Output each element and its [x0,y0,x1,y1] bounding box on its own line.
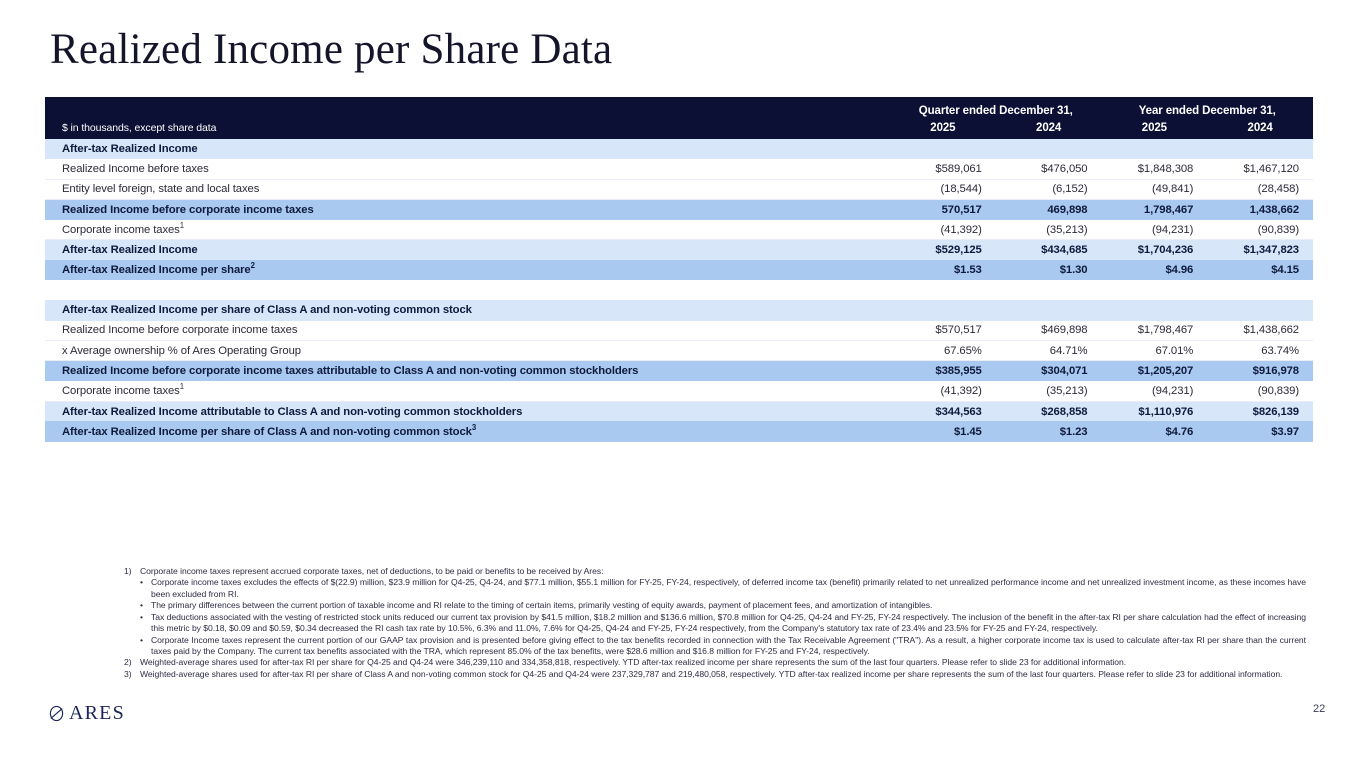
row-value-1: 64.71% [996,341,1102,361]
row-value-3: $1,438,662 [1207,321,1313,341]
footnote-1-bullet: •The primary differences between the cur… [140,600,1306,611]
row-label: Corporate income taxes1 [45,381,890,401]
row-value-3: (90,839) [1207,381,1313,401]
row-label: Corporate income taxes1 [45,220,890,240]
row-value-0: $1.45 [890,421,996,441]
row-label: Realized Income before corporate income … [45,361,890,381]
row-value-2: 67.01% [1102,341,1208,361]
row-value-0: $589,061 [890,159,996,179]
financial-table-container: Quarter ended December 31, Year ended De… [45,97,1313,442]
footnote-2-marker: 2) [124,657,140,668]
row-value-1: $304,071 [996,361,1102,381]
slide-root: Realized Income per Share Data Quarter e… [0,0,1365,768]
bullet-icon: • [140,612,151,635]
row-value-2: $4.96 [1102,260,1208,280]
row-label: After-tax Realized Income [45,240,890,260]
row-label: After-tax Realized Income per share2 [45,260,890,280]
table-row: Realized Income before taxes$589,061$476… [45,159,1313,179]
bullet-icon: • [140,600,151,611]
row-value-2: $1,110,976 [1102,401,1208,421]
table-header-groups-row: Quarter ended December 31, Year ended De… [45,97,1313,118]
row-label: Realized Income before taxes [45,159,890,179]
row-value-3: 1,438,662 [1207,200,1313,220]
row-value-2: $1,848,308 [1102,159,1208,179]
table-row: x Average ownership % of Ares Operating … [45,341,1313,361]
column-group-year: Year ended December 31, [1102,97,1314,118]
row-value-1: (35,213) [996,381,1102,401]
row-value-3: $4.15 [1207,260,1313,280]
footnote-1-bullet: •Tax deductions associated with the vest… [140,612,1306,635]
footnote-1-bullets: •Corporate income taxes excludes the eff… [124,577,1306,657]
row-value-3: $3.97 [1207,421,1313,441]
row-value-0: 67.65% [890,341,996,361]
page-title: Realized Income per Share Data [50,25,612,74]
table-section-heading: After-tax Realized Income per share of C… [45,300,1313,320]
row-value-2: $4.76 [1102,421,1208,441]
row-value-0: (41,392) [890,381,996,401]
footnote-1-bullet: •Corporate Income taxes represent the cu… [140,635,1306,658]
header-year-q-2024: 2024 [996,118,1102,139]
footnote-1: 1) Corporate income taxes represent accr… [124,566,1306,577]
header-year-fy-2025: 2025 [1102,118,1208,139]
row-value-3: 63.74% [1207,341,1313,361]
row-value-1: 469,898 [996,200,1102,220]
table-row: Realized Income before corporate income … [45,361,1313,381]
row-label: x Average ownership % of Ares Operating … [45,341,890,361]
table-row: Entity level foreign, state and local ta… [45,179,1313,199]
footnote-3-text: Weighted-average shares used for after-t… [140,669,1306,680]
page-number: 22 [1313,703,1325,715]
row-value-1: $476,050 [996,159,1102,179]
footnote-1-bullet: •Corporate income taxes excludes the eff… [140,577,1306,600]
row-value-0: $570,517 [890,321,996,341]
column-group-quarter: Quarter ended December 31, [890,97,1102,118]
row-value-3: $1,347,823 [1207,240,1313,260]
row-value-0: $529,125 [890,240,996,260]
row-label: Realized Income before corporate income … [45,321,890,341]
row-label: Realized Income before corporate income … [45,200,890,220]
row-label: After-tax Realized Income per share of C… [45,421,890,441]
row-value-2: $1,205,207 [1102,361,1208,381]
table-section-heading-row: After-tax Realized Income per share of C… [45,300,1313,320]
footnote-2: 2) Weighted-average shares used for afte… [124,657,1306,668]
section-spacer [45,280,1313,300]
footnote-1-bullet-text: The primary differences between the curr… [151,600,1306,611]
row-value-0: 570,517 [890,200,996,220]
table-row: After-tax Realized Income attributable t… [45,401,1313,421]
table-row: After-tax Realized Income per share2$1.5… [45,260,1313,280]
footnote-1-bullet-text: Tax deductions associated with the vesti… [151,612,1306,635]
ares-logo-text: ARES [69,702,125,725]
row-value-3: $1,467,120 [1207,159,1313,179]
table-row: Corporate income taxes1(41,392)(35,213)(… [45,220,1313,240]
bullet-icon: • [140,577,151,600]
header-year-fy-2024: 2024 [1207,118,1313,139]
row-value-0: $385,955 [890,361,996,381]
row-value-1: (6,152) [996,179,1102,199]
row-value-0: (41,392) [890,220,996,240]
row-label: After-tax Realized Income attributable t… [45,401,890,421]
row-value-1: $469,898 [996,321,1102,341]
footnote-ref: 2 [251,261,255,270]
footnote-1-text: Corporate income taxes represent accrued… [140,566,1306,577]
row-value-0: $344,563 [890,401,996,421]
unit-note: $ in thousands, except share data [45,118,890,139]
table-row: Realized Income before corporate income … [45,321,1313,341]
spacer-row [45,280,1313,300]
row-value-2: (94,231) [1102,381,1208,401]
table-header-group: Quarter ended December 31, Year ended De… [45,97,1313,139]
footnote-1-bullet-text: Corporate Income taxes represent the cur… [151,635,1306,658]
row-value-0: $1.53 [890,260,996,280]
section-per-share-class-a: After-tax Realized Income per share of C… [45,300,1313,441]
row-value-3: (90,839) [1207,220,1313,240]
table-row: After-tax Realized Income per share of C… [45,421,1313,441]
row-value-0: (18,544) [890,179,996,199]
footnote-3-marker: 3) [124,669,140,680]
table-section-heading-row: After-tax Realized Income [45,139,1313,159]
table-section-heading: After-tax Realized Income [45,139,1313,159]
spacer-cell [45,280,1313,300]
row-value-3: (28,458) [1207,179,1313,199]
row-value-3: $916,978 [1207,361,1313,381]
row-value-1: $1.30 [996,260,1102,280]
ares-logo: ARES [48,702,125,725]
table-row: Corporate income taxes1(41,392)(35,213)(… [45,381,1313,401]
bullet-icon: • [140,635,151,658]
row-value-3: $826,139 [1207,401,1313,421]
ares-circle-slash-logo-icon [48,705,65,722]
footnote-ref: 1 [180,382,184,391]
header-year-q-2025: 2025 [890,118,996,139]
footnote-ref: 1 [180,221,184,230]
row-value-2: (94,231) [1102,220,1208,240]
row-value-1: $434,685 [996,240,1102,260]
financial-table: Quarter ended December 31, Year ended De… [45,97,1313,442]
footnote-2-text: Weighted-average shares used for after-t… [140,657,1306,668]
table-header-years-row: $ in thousands, except share data 2025 2… [45,118,1313,139]
footnote-ref: 3 [472,423,476,432]
footnotes-block: 1) Corporate income taxes represent accr… [124,566,1306,680]
row-value-2: $1,704,236 [1102,240,1208,260]
section-after-tax-realized-income: After-tax Realized IncomeRealized Income… [45,139,1313,280]
table-row: After-tax Realized Income$529,125$434,68… [45,240,1313,260]
row-value-2: 1,798,467 [1102,200,1208,220]
footnote-1-marker: 1) [124,566,140,577]
header-spacer-cell [45,97,890,118]
footnote-1-bullet-text: Corporate income taxes excludes the effe… [151,577,1306,600]
footnote-3: 3) Weighted-average shares used for afte… [124,669,1306,680]
row-label: Entity level foreign, state and local ta… [45,179,890,199]
table-row: Realized Income before corporate income … [45,200,1313,220]
row-value-2: $1,798,467 [1102,321,1208,341]
row-value-1: $268,858 [996,401,1102,421]
row-value-2: (49,841) [1102,179,1208,199]
row-value-1: (35,213) [996,220,1102,240]
row-value-1: $1.23 [996,421,1102,441]
